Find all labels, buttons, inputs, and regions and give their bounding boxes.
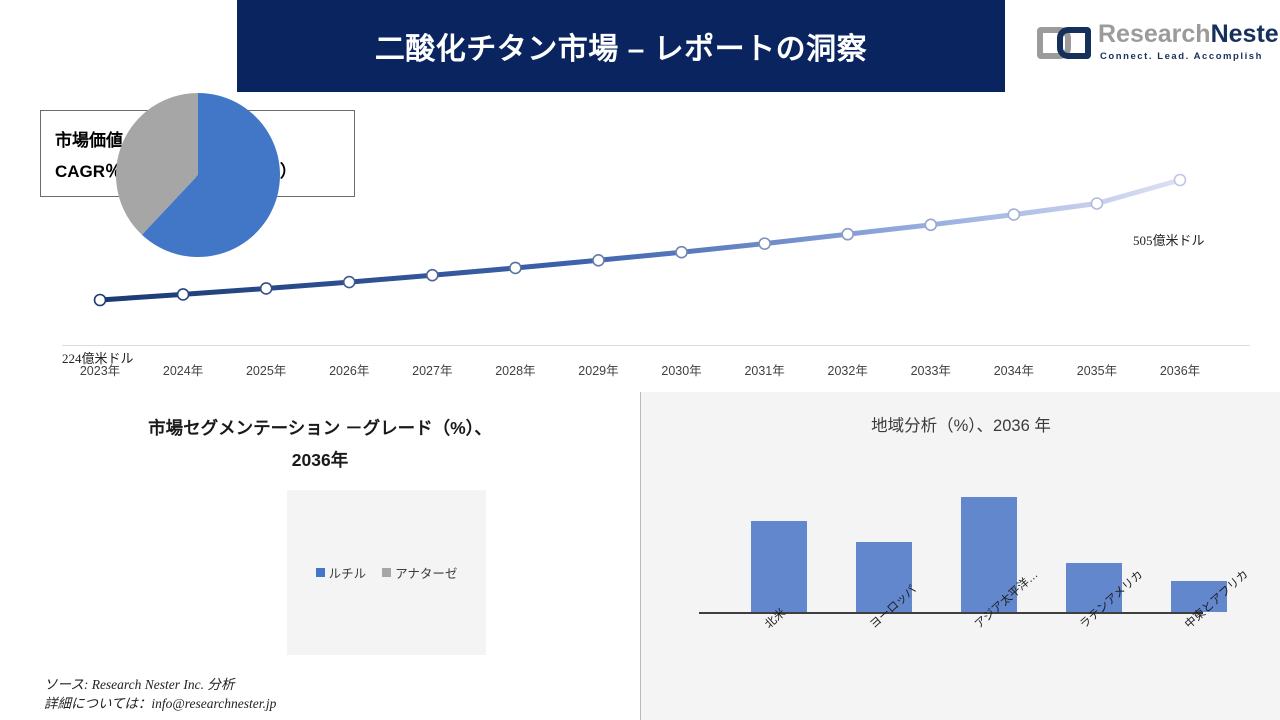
regional-bars [701,472,1221,612]
year-label-2036: 2036年 [1160,360,1200,379]
year-label-2031: 2031年 [744,360,784,379]
year-label-2028: 2028年 [495,360,535,379]
legend-swatch-icon [382,568,391,577]
legend-label: ルチル [329,563,367,582]
year-label-2035: 2035年 [1077,360,1117,379]
line-marker [178,289,189,300]
year-label-2029: 2029年 [578,360,618,379]
logo-name-nester: Nester [1211,20,1280,48]
line-marker [510,262,521,273]
header-banner: 二酸化チタン市場 – レポートの洞察 [237,0,1005,92]
year-label-2023: 2023年 [80,360,120,379]
line-marker [1008,209,1019,220]
grade-pie-chart [115,92,281,258]
logo-wordmark: ResearchNester [1098,22,1280,47]
interlocking-links-icon [1036,26,1092,60]
line-marker [1175,175,1186,186]
line-marker [593,255,604,266]
regional-analysis-title: 地域分析（%）、2036 年 [641,412,1280,436]
year-label-2026: 2026年 [329,360,369,379]
year-label-2024: 2024年 [163,360,203,379]
logo-name-research: Research [1098,20,1211,48]
legend-item-アナターゼ[interactable]: アナターゼ [382,563,457,582]
line-marker [95,295,106,306]
line-marker [261,283,272,294]
line-marker [842,229,853,240]
regional-analysis-panel: 地域分析（%）、2036 年 北米ヨーロッパアジア太平洋…ラテンアメリカ中東とア… [640,392,1280,720]
line-marker [925,219,936,230]
line-marker [759,238,770,249]
year-label-2033: 2033年 [911,360,951,379]
line-end-value-label: 505億米ドル [1133,230,1205,249]
legend-label: アナターゼ [395,563,457,582]
line-marker [676,247,687,258]
line-marker [427,270,438,281]
source-line: ソース: Research Nester Inc. 分析 [44,675,464,694]
year-label-2025: 2025年 [246,360,286,379]
legend-swatch-icon [316,568,325,577]
x-axis-line [62,345,1250,346]
source-note: ソース: Research Nester Inc. 分析 詳細については：inf… [44,675,464,713]
logo-tagline: Connect. Lead. Accomplish [1100,51,1263,62]
year-label-2027: 2027年 [412,360,452,379]
year-label-2030: 2030年 [661,360,701,379]
year-label-2032: 2032年 [828,360,868,379]
pie-legend-items: ルチルアナターゼ [316,563,458,582]
segmentation-title-line1: 市場セグメンテーション －グレード（%）、 [20,412,620,444]
x-axis-year-labels: 2023年2024年2025年2026年2027年2028年2029年2030年… [62,360,1250,382]
pie-chart-svg [115,92,281,258]
pie-percent-label: 62％ [181,523,219,550]
bar-北米 [751,521,807,612]
contact-line: 詳細については：info@researchnester.jp [44,694,464,713]
page-title: 二酸化チタン市場 – レポートの洞察 [375,24,867,68]
legend-item-ルチル[interactable]: ルチル [316,563,367,582]
line-marker [344,277,355,288]
year-label-2034: 2034年 [994,360,1034,379]
line-marker [1091,198,1102,209]
segmentation-title-line2: 2036年 [20,444,620,476]
segmentation-title: 市場セグメンテーション －グレード（%）、 2036年 [20,412,620,476]
company-logo: ResearchNester Connect. Lead. Accomplish [1036,20,1254,72]
pie-legend-panel: ルチルアナターゼ [287,490,486,655]
